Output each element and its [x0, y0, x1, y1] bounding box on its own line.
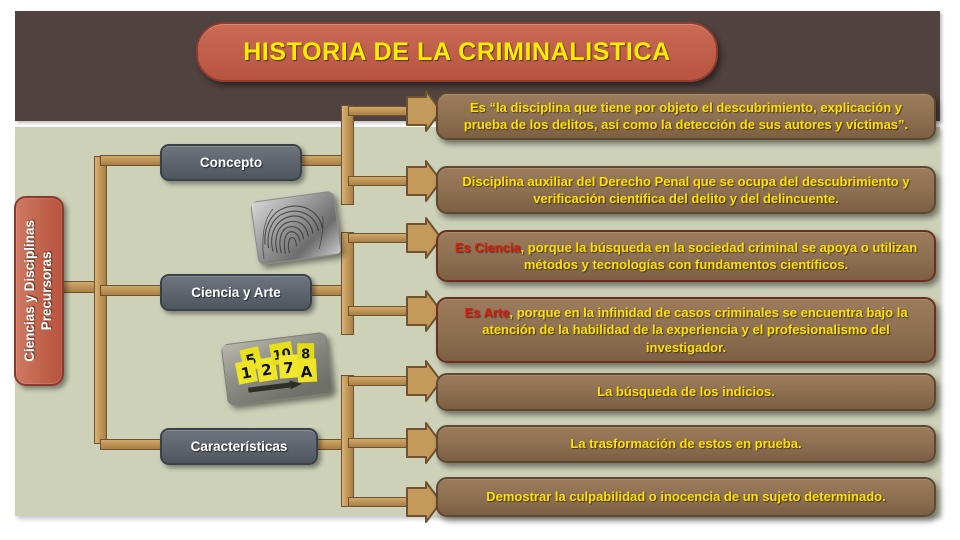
info-box-es-arte-highlight: Es Arte [464, 305, 509, 320]
evidence-markers-icon: 5 1 2 10 7 8 A [221, 332, 334, 406]
fingerprint-image [250, 190, 342, 265]
info-box-caracteristica-busqueda-text: La búsqueda de los indicios. [597, 383, 775, 400]
info-box-es-arte-body: , porque en la infinidad de casos crimin… [482, 305, 907, 354]
info-box-concepto-auxiliar-text: Disciplina auxiliar del Derecho Penal qu… [450, 173, 922, 207]
info-box-caracteristica-demostrar: Demostrar la culpabilidad o inocencia de… [436, 477, 936, 517]
category-caracteristicas[interactable]: Características [160, 428, 318, 465]
side-label-line2: Precursoras [39, 252, 54, 331]
side-label-ciencias-precursoras: Ciencias y Disciplinas Precursoras [14, 196, 64, 386]
category-concepto[interactable]: Concepto [160, 144, 302, 181]
page-title-text: HISTORIA DE LA CRIMINALISTICA [243, 38, 671, 67]
connector-to-caracteristicas [100, 439, 162, 450]
info-box-es-ciencia-highlight: Es Ciencia [455, 240, 521, 255]
info-box-es-ciencia-body: , porque la búsqueda en la sociedad crim… [521, 240, 918, 272]
info-box-caracteristica-trasformacion: La trasformación de estos en prueba. [436, 425, 936, 463]
info-box-concepto-definicion-text: Es “la disciplina que tiene por objeto e… [450, 99, 922, 133]
connector-ciencia-branch [341, 232, 354, 335]
connector-to-concepto [100, 155, 162, 166]
category-concepto-label: Concepto [200, 155, 262, 170]
info-box-es-arte-text: Es Arte, porque en la infinidad de casos… [450, 304, 922, 355]
fingerprint-icon [250, 190, 342, 265]
category-caracteristicas-label: Características [191, 439, 288, 454]
info-box-caracteristica-busqueda: La búsqueda de los indicios. [436, 373, 936, 411]
info-box-caracteristica-demostrar-text: Demostrar la culpabilidad o inocencia de… [486, 488, 885, 505]
connector-concepto-branch [341, 105, 354, 205]
category-ciencia-y-arte[interactable]: Ciencia y Arte [160, 274, 312, 311]
evidence-markers-image: 5 1 2 10 7 8 A [221, 332, 334, 406]
connector-to-ciencia-arte [100, 285, 162, 296]
info-box-concepto-definicion: Es “la disciplina que tiene por objeto e… [436, 92, 936, 140]
connector-trunk-stub [58, 281, 98, 293]
svg-text:7: 7 [283, 359, 295, 378]
info-box-caracteristica-trasformacion-text: La trasformación de estos en prueba. [570, 435, 801, 452]
info-box-es-arte: Es Arte, porque en la infinidad de casos… [436, 297, 936, 363]
side-label-line1: Ciencias y Disciplinas [22, 220, 37, 362]
info-box-concepto-auxiliar: Disciplina auxiliar del Derecho Penal qu… [436, 166, 936, 214]
page-title: HISTORIA DE LA CRIMINALISTICA [196, 22, 718, 82]
slide-canvas: HISTORIA DE LA CRIMINALISTICA [0, 0, 960, 540]
info-box-es-ciencia: Es Ciencia, porque la búsqueda en la soc… [436, 230, 936, 282]
info-box-es-ciencia-text: Es Ciencia, porque la búsqueda en la soc… [450, 239, 922, 273]
svg-text:A: A [300, 363, 313, 382]
category-ciencia-y-arte-label: Ciencia y Arte [191, 285, 281, 300]
connector-main-spine [94, 156, 107, 444]
